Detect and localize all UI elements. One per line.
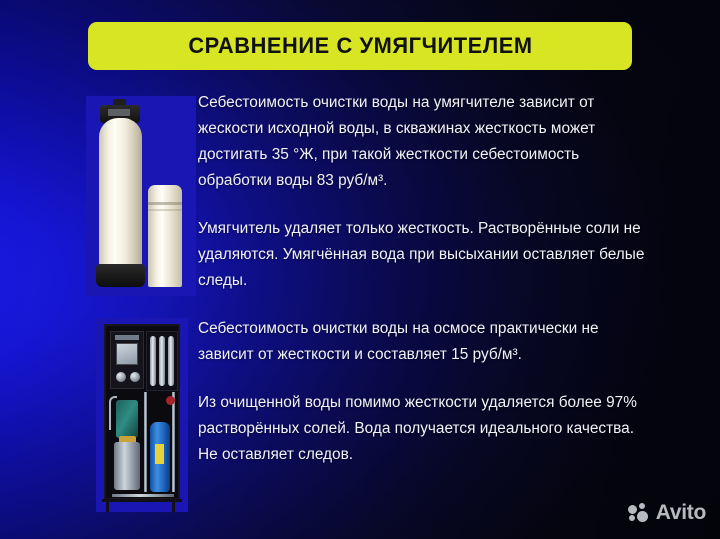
avito-dot (628, 505, 637, 514)
avito-dot (639, 503, 645, 509)
osmosis-pressure-gauge-icon (130, 372, 140, 382)
page-title: СРАВНЕНИЕ С УМЯГЧИТЕЛЕМ (188, 33, 532, 59)
osmosis-frame (104, 324, 180, 500)
osmosis-frame-leg (106, 500, 109, 512)
avito-watermark: Avito (628, 501, 706, 525)
softener-base (96, 264, 145, 287)
osmosis-membrane (150, 336, 156, 386)
paragraph-osmosis-cost: Себестоимость очистки воды на осмосе пра… (198, 316, 646, 368)
osmosis-pipe (172, 392, 175, 492)
osmosis-control-panel (110, 331, 144, 389)
title-banner: СРАВНЕНИЕ С УМЯГЧИТЕЛЕМ (88, 22, 632, 70)
body-copy: Себестоимость очистки воды на умягчителе… (198, 90, 646, 468)
osmosis-panel-label (115, 335, 139, 340)
osmosis-pump (116, 400, 138, 438)
osmosis-pipe (112, 494, 174, 497)
reverse-osmosis-photo (96, 318, 188, 512)
water-softener-photo (86, 96, 196, 296)
avito-logo-icon (628, 503, 650, 523)
osmosis-frame-leg (172, 500, 175, 512)
softener-brine-tank (148, 185, 182, 287)
softener-resin-tank (99, 118, 142, 273)
avito-wordmark: Avito (656, 501, 706, 525)
osmosis-motor (114, 442, 140, 490)
osmosis-pressure-gauge-icon (116, 372, 126, 382)
paragraph-softener-limits: Умягчитель удаляет только жесткость. Рас… (198, 216, 646, 294)
avito-dot (637, 511, 648, 522)
avito-dot (629, 515, 635, 521)
osmosis-frame-foot (102, 499, 182, 502)
osmosis-pipe (144, 392, 147, 492)
osmosis-membrane-housings (146, 331, 178, 391)
paragraph-softener-cost: Себестоимость очистки воды на умягчителе… (198, 90, 646, 194)
osmosis-prefilter-vessel (150, 422, 170, 492)
paragraph-osmosis-quality: Из очищенной воды помимо жесткости удаля… (198, 390, 646, 468)
osmosis-membrane (168, 336, 174, 386)
osmosis-valve-handle (166, 396, 175, 405)
osmosis-membrane (159, 336, 165, 386)
comparison-slide: СРАВНЕНИЕ С УМЯГЧИТЕЛЕМ (0, 0, 720, 539)
osmosis-display-screen (116, 343, 138, 365)
